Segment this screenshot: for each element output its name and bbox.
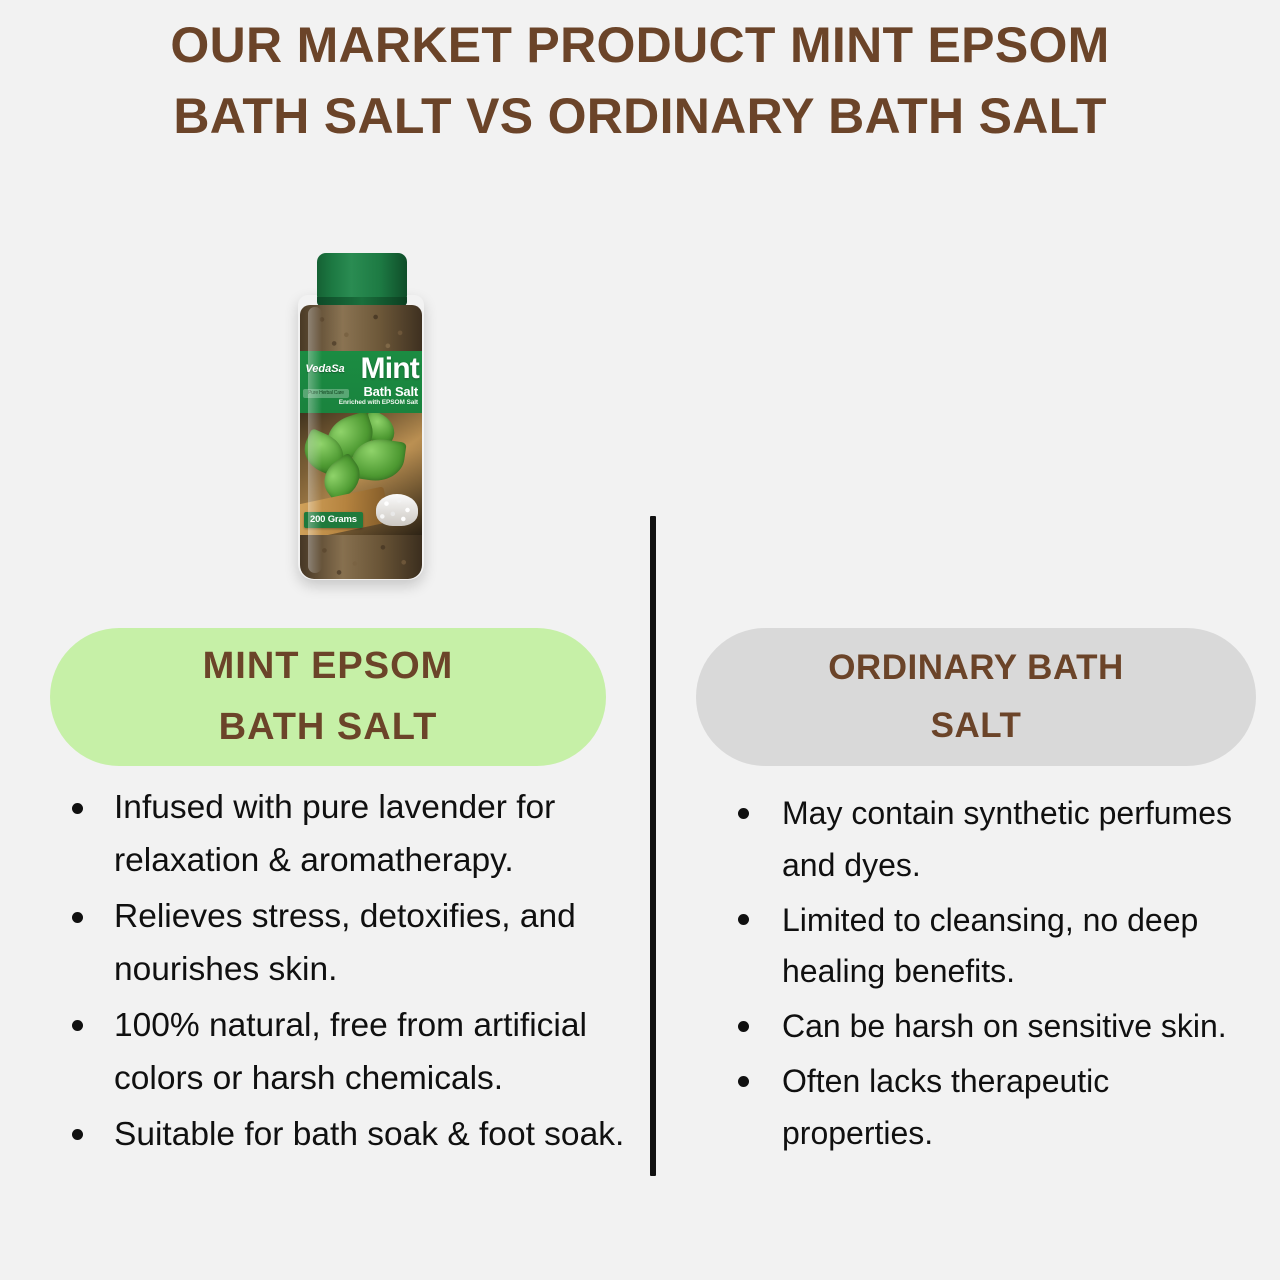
list-item: 100% natural, free from artificial color… bbox=[56, 1000, 646, 1106]
right-column: ORDINARY BATH SALT May contain synthetic… bbox=[656, 0, 1280, 1280]
bottle-label: VedaSa Pure Herbal Care Range Mint Bath … bbox=[300, 351, 422, 536]
salt-pile bbox=[376, 494, 418, 526]
list-item: May contain synthetic perfumes and dyes. bbox=[716, 788, 1256, 892]
list-item: Infused with pure lavender for relaxatio… bbox=[56, 782, 646, 888]
left-header-line-2: BATH SALT bbox=[203, 697, 454, 758]
bottle-bottom-granules bbox=[300, 535, 422, 579]
right-header-pill: ORDINARY BATH SALT bbox=[696, 628, 1256, 766]
product-subtitle-text: Bath Salt bbox=[363, 385, 418, 398]
product-name-text: Mint bbox=[361, 354, 419, 384]
list-item: Suitable for bath soak & foot soak. bbox=[56, 1109, 646, 1162]
product-tagline-text: Enriched with EPSOM Salt bbox=[339, 400, 418, 407]
right-header-line-2: SALT bbox=[828, 697, 1124, 755]
left-header-pill: MINT EPSOM BATH SALT bbox=[50, 628, 606, 766]
list-item: Limited to cleansing, no deep healing be… bbox=[716, 895, 1256, 999]
list-item: Relieves stress, detoxifies, and nourish… bbox=[56, 891, 646, 997]
bottle-top-granules bbox=[300, 305, 422, 353]
left-header-line-1: MINT EPSOM bbox=[203, 636, 454, 697]
mint-epsom-bath-salt-bottle-image: VedaSa Pure Herbal Care Range Mint Bath … bbox=[296, 253, 426, 583]
left-column: VedaSa Pure Herbal Care Range Mint Bath … bbox=[0, 0, 650, 1280]
list-item: Often lacks therapeutic properties. bbox=[716, 1056, 1256, 1160]
right-drawbacks-list: May contain synthetic perfumes and dyes.… bbox=[716, 788, 1256, 1163]
brand-logo-subtext: Pure Herbal Care Range bbox=[303, 389, 349, 398]
bottle-cap-icon bbox=[317, 253, 407, 301]
left-benefits-list: Infused with pure lavender for relaxatio… bbox=[56, 782, 646, 1164]
list-item: Can be harsh on sensitive skin. bbox=[716, 1001, 1256, 1053]
weight-badge: 200 Grams bbox=[304, 512, 363, 528]
right-header-line-1: ORDINARY BATH bbox=[828, 639, 1124, 697]
bottle-label-header: VedaSa Pure Herbal Care Range Mint Bath … bbox=[300, 351, 422, 413]
bottle-label-photo: 200 Grams bbox=[300, 413, 422, 536]
brand-logo: VedaSa bbox=[305, 356, 345, 390]
